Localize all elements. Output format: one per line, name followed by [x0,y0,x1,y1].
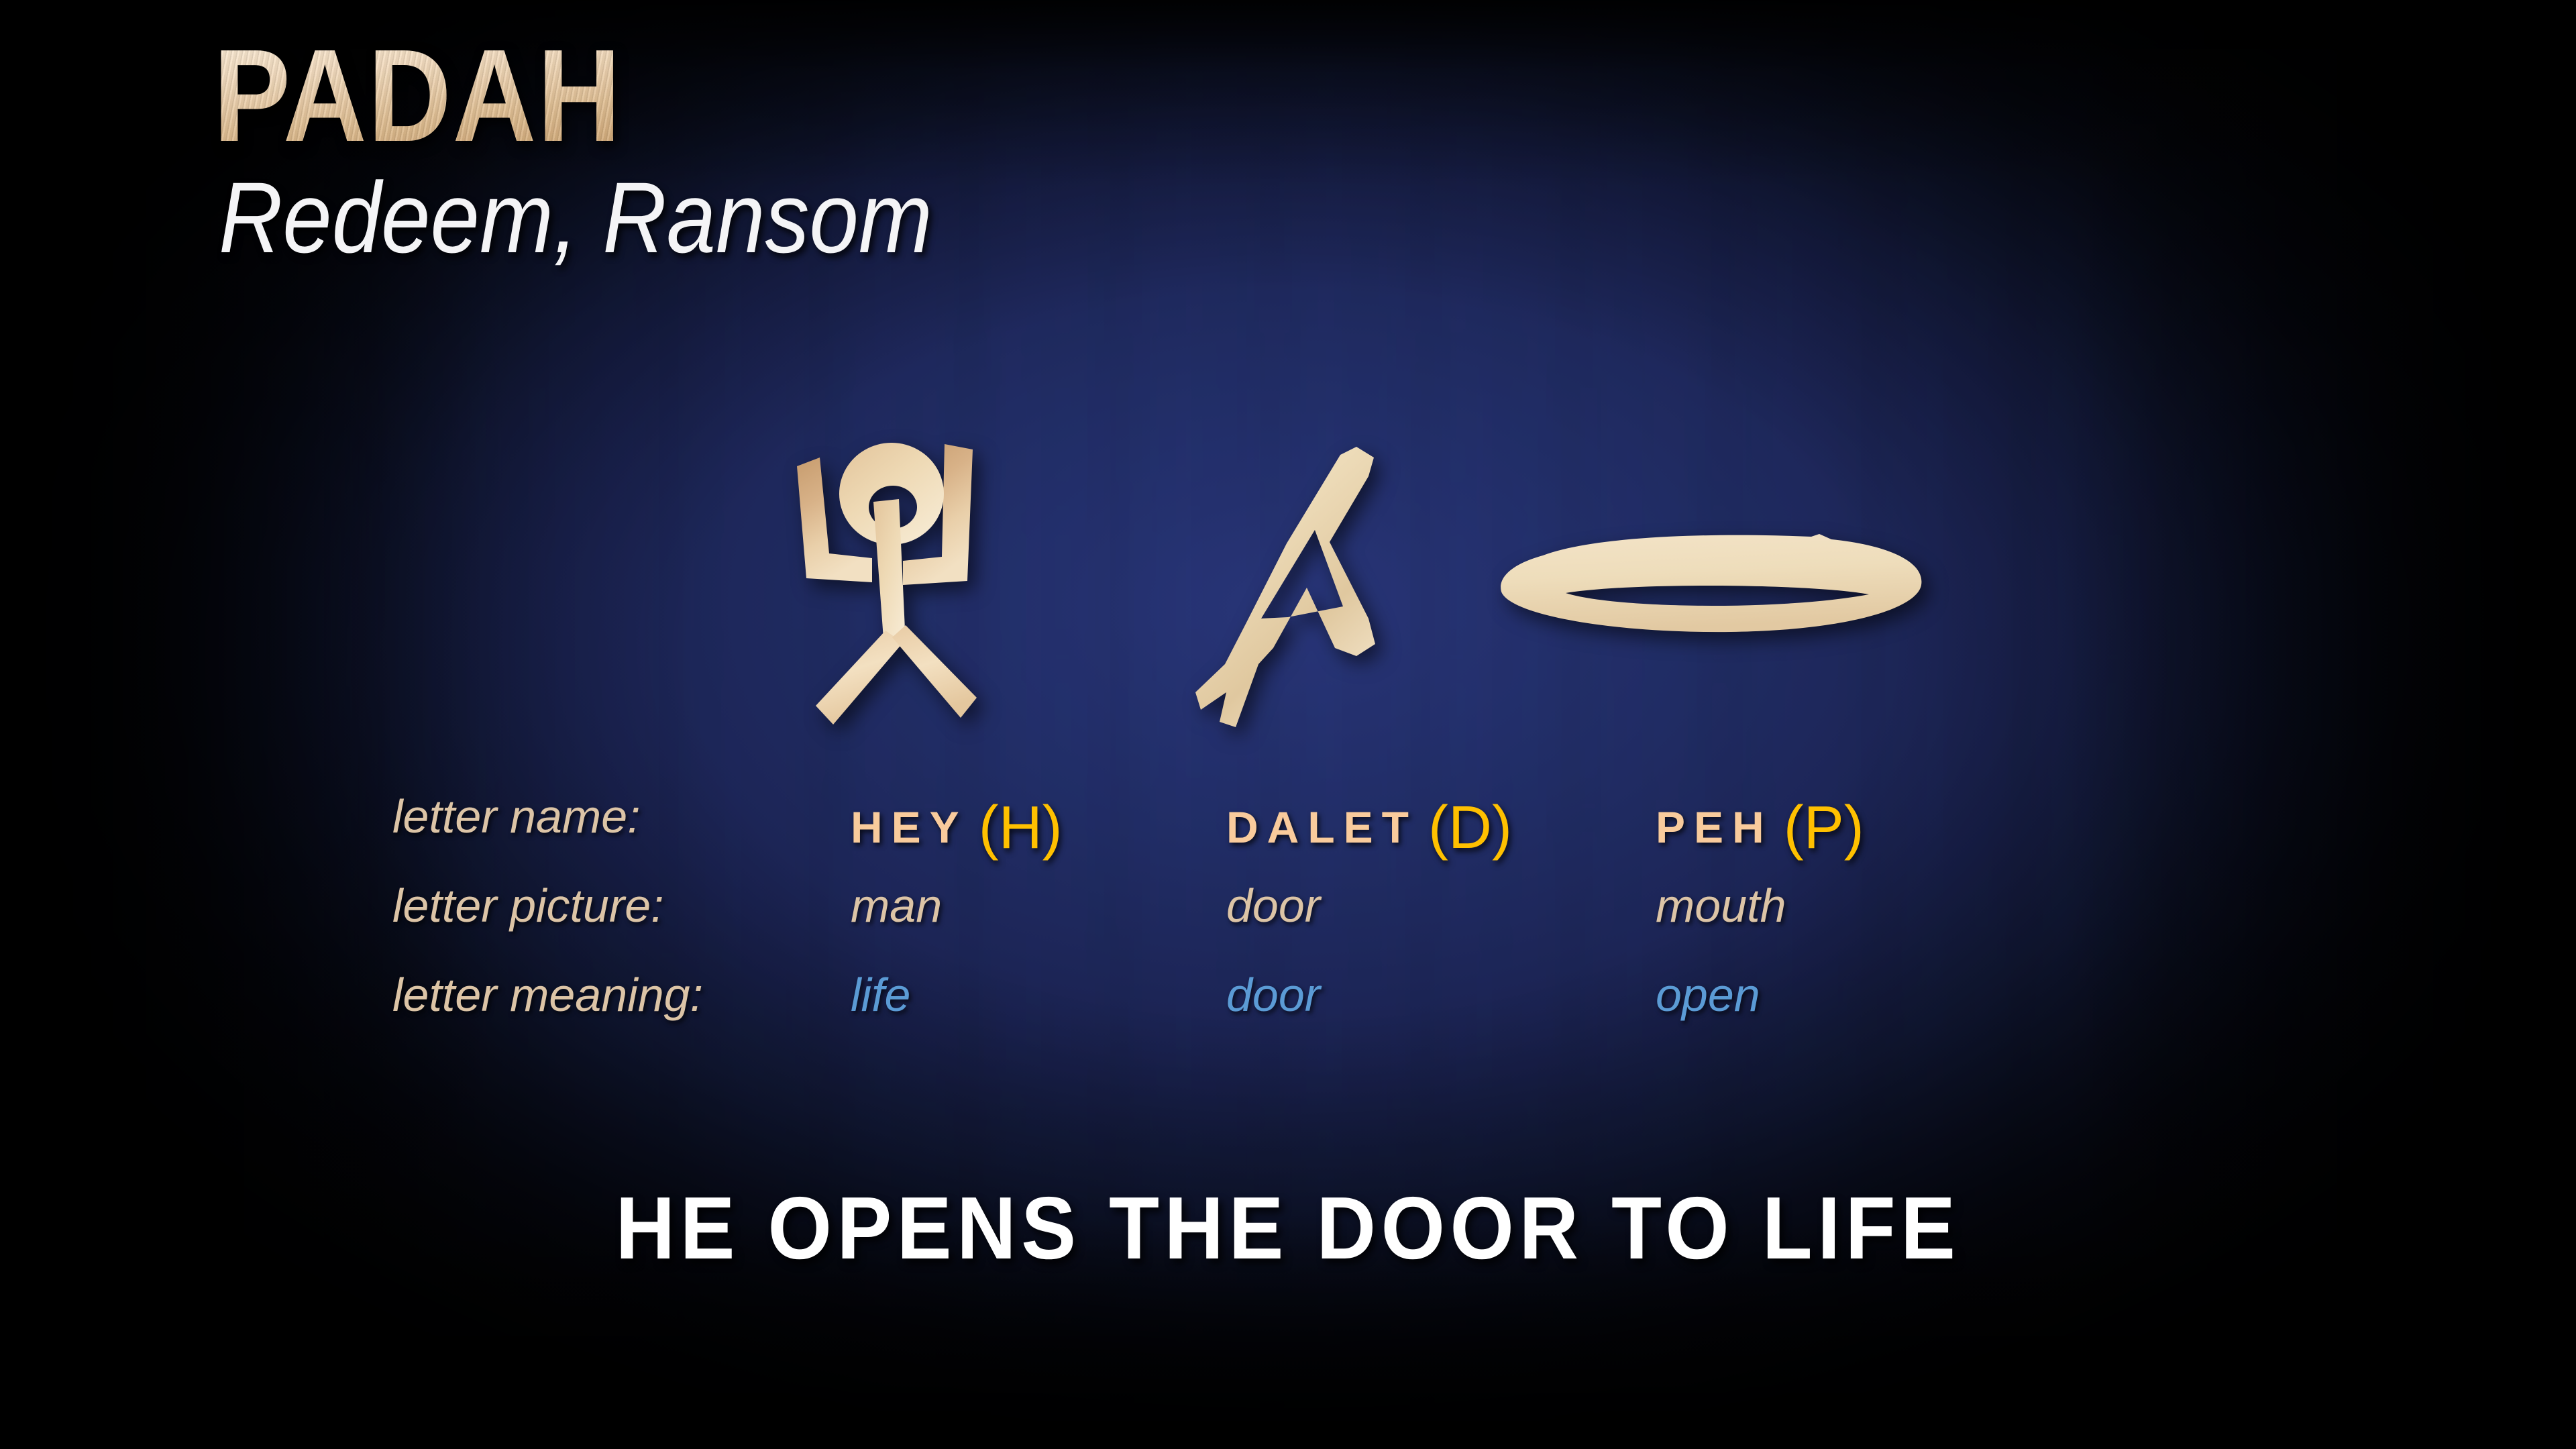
letter-picture-dalet: door [1226,879,1320,932]
letter-meaning-hey: life [851,968,910,1022]
row-label-letter-picture: letter picture: [392,879,664,932]
hebrew-word-study-slide: PADAH Redeem, Ransom [0,0,2576,1449]
letter-meaning-peh: open [1656,968,1760,1022]
letter-picture-peh: mouth [1656,879,1786,932]
title-block: PADAH Redeem, Ransom [213,30,1030,268]
letter-breakdown-table: letter name: HEY(H) DALET(D) PEH(P) lett… [0,788,2576,1056]
letter-name-text: HEY [851,802,968,852]
hebrew-word-meaning-subtitle: Redeem, Ransom [219,167,932,268]
row-label-letter-name: letter name: [392,790,641,843]
letter-picture-hey: man [851,879,942,932]
table-row-letter-meaning: letter meaning: life door open [0,967,2576,1056]
table-row-letter-picture: letter picture: man door mouth [0,877,2576,967]
table-row-letter-name: letter name: HEY(H) DALET(D) PEH(P) [0,788,2576,877]
open-mouth-pictograph [1496,530,1925,637]
pictograph-row [0,429,2576,745]
letter-name-text: DALET [1226,802,1417,852]
hebrew-word-title: PADAH [213,30,932,162]
letter-name-peh: PEH(P) [1656,788,1864,857]
man-with-raised-arms-pictograph [771,429,1040,731]
letter-name-text: PEH [1656,802,1773,852]
slide-content: PADAH Redeem, Ransom [0,0,2576,1449]
letter-latin-equivalent: (H) [979,794,1063,861]
summary-phrase: HE OPENS THE DOOR TO LIFE [90,1177,2485,1279]
letter-latin-equivalent: (P) [1784,794,1864,861]
letter-name-hey: HEY(H) [851,788,1063,857]
row-label-letter-meaning: letter meaning: [392,968,703,1022]
letter-latin-equivalent: (D) [1428,794,1512,861]
letter-name-dalet: DALET(D) [1226,788,1512,857]
tent-door-pictograph [1093,443,1395,731]
letter-meaning-dalet: door [1226,968,1320,1022]
